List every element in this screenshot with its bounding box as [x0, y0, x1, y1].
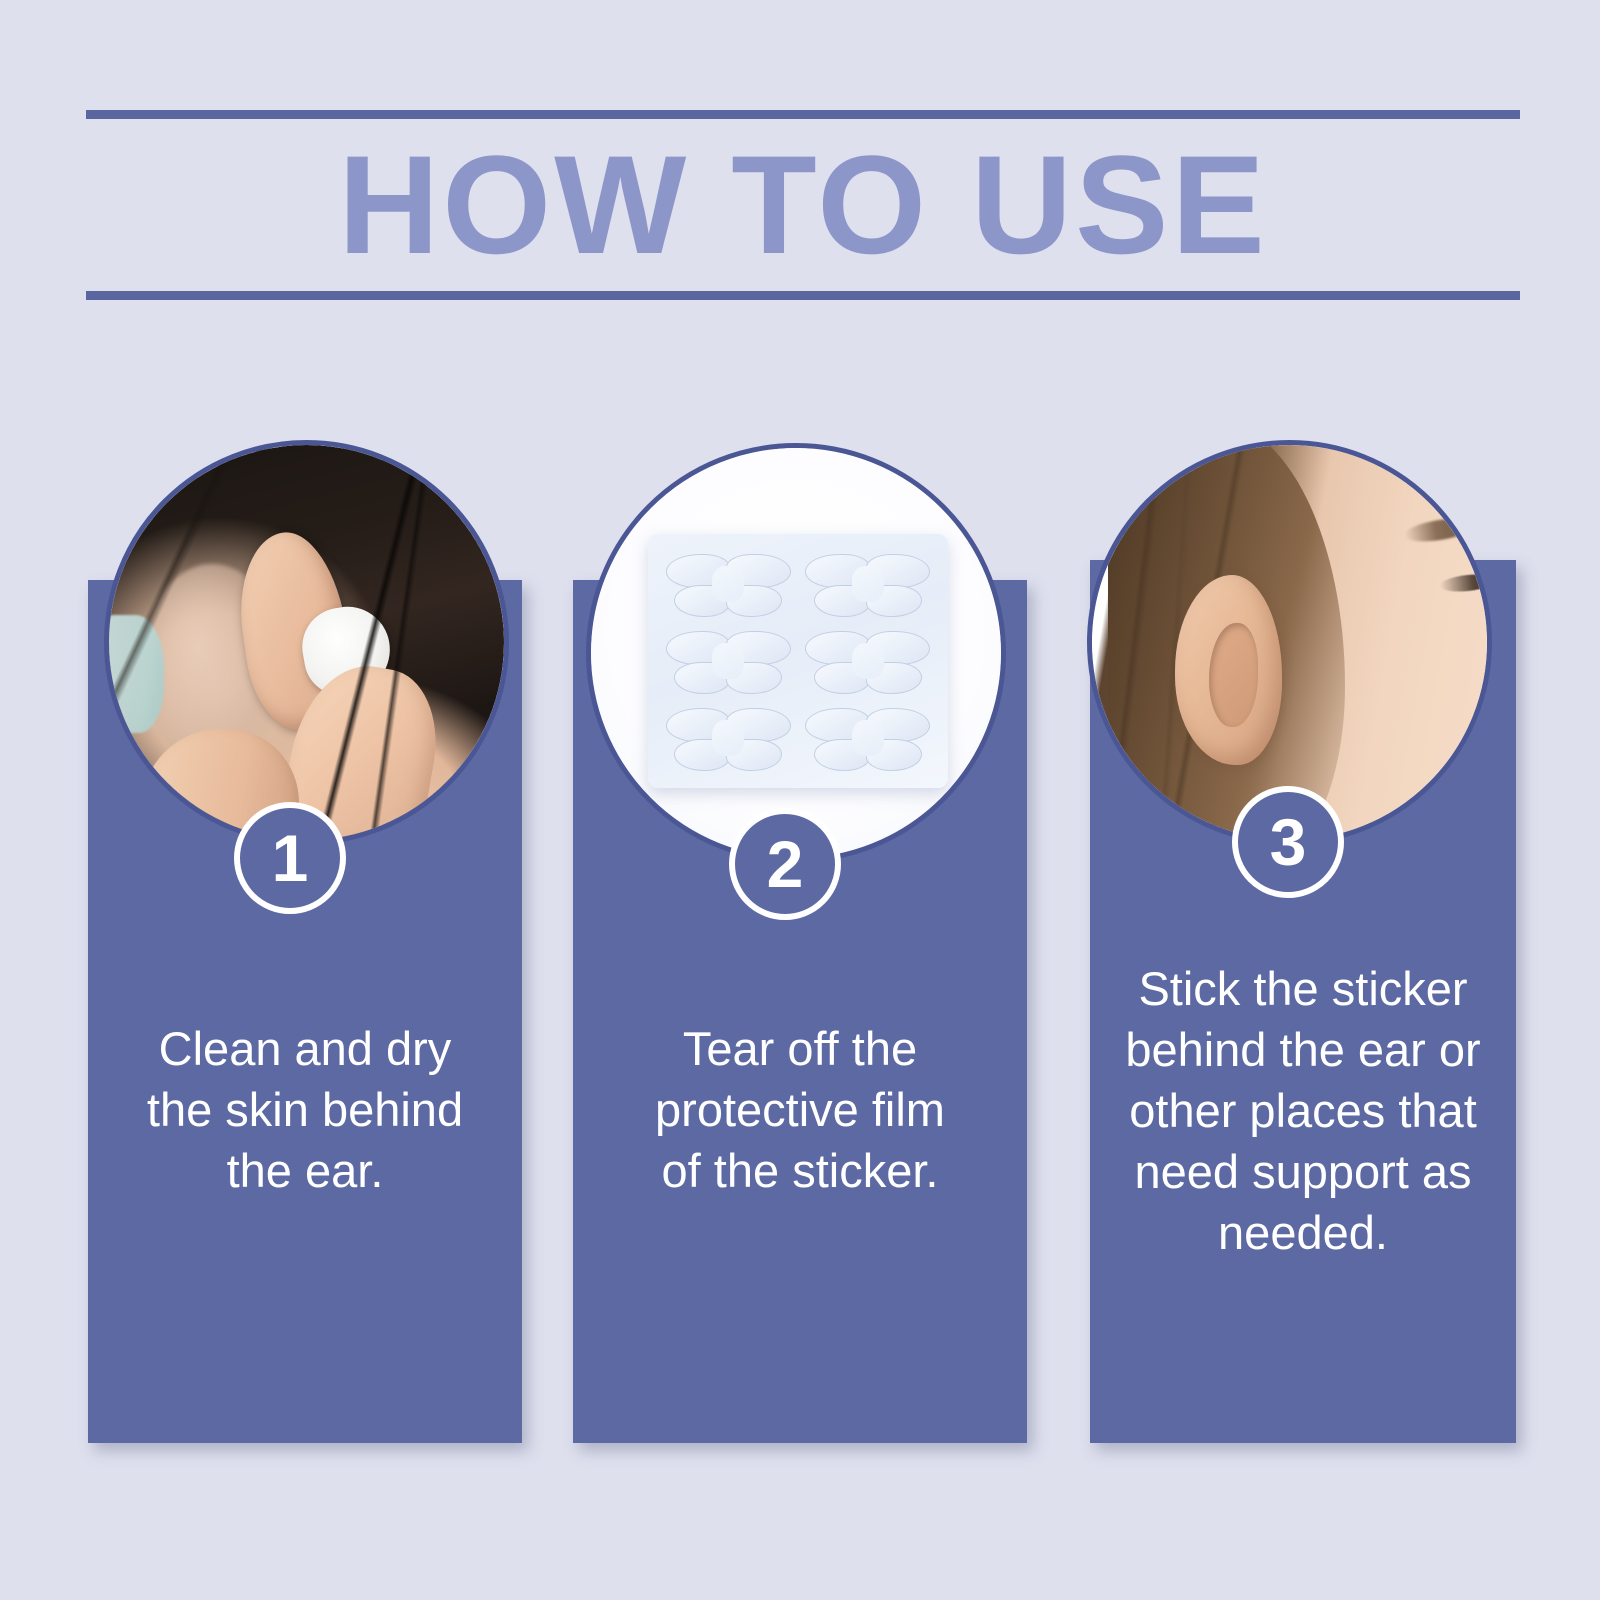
- ear-shape-icon: [1175, 575, 1282, 765]
- butterfly-sticker-icon: [660, 624, 796, 699]
- step-photo-2-image: [591, 448, 1001, 858]
- step-photo-1-image: [109, 445, 504, 840]
- sticker-grid: [660, 547, 935, 776]
- step-photo-3: [1087, 440, 1492, 845]
- hair-strands-icon: [109, 445, 504, 840]
- butterfly-sticker-icon: [800, 624, 936, 699]
- steps-container: 1 Clean and dry the skin behind the ear.: [0, 0, 1600, 1600]
- step-caption-2: Tear off the protective film of the stic…: [573, 1018, 1027, 1201]
- butterfly-sticker-icon: [660, 701, 796, 776]
- butterfly-sticker-icon: [660, 547, 796, 622]
- butterfly-sticker-icon: [800, 701, 936, 776]
- step-photo-2: [586, 443, 1006, 863]
- step-badge-1: 1: [234, 802, 346, 914]
- butterfly-sticker-icon: [800, 547, 936, 622]
- hair-strands-icon: [1092, 445, 1487, 840]
- step-photo-1: [104, 440, 509, 845]
- sticker-sheet-icon: [648, 534, 947, 788]
- step-badge-2: 2: [729, 808, 841, 920]
- step-photo-3-image: [1092, 445, 1487, 840]
- ear-inner-icon: [1209, 623, 1258, 727]
- step-badge-3: 3: [1232, 786, 1344, 898]
- step-caption-1: Clean and dry the skin behind the ear.: [88, 1018, 522, 1201]
- step-caption-3: Stick the sticker behind the ear or othe…: [1090, 958, 1516, 1263]
